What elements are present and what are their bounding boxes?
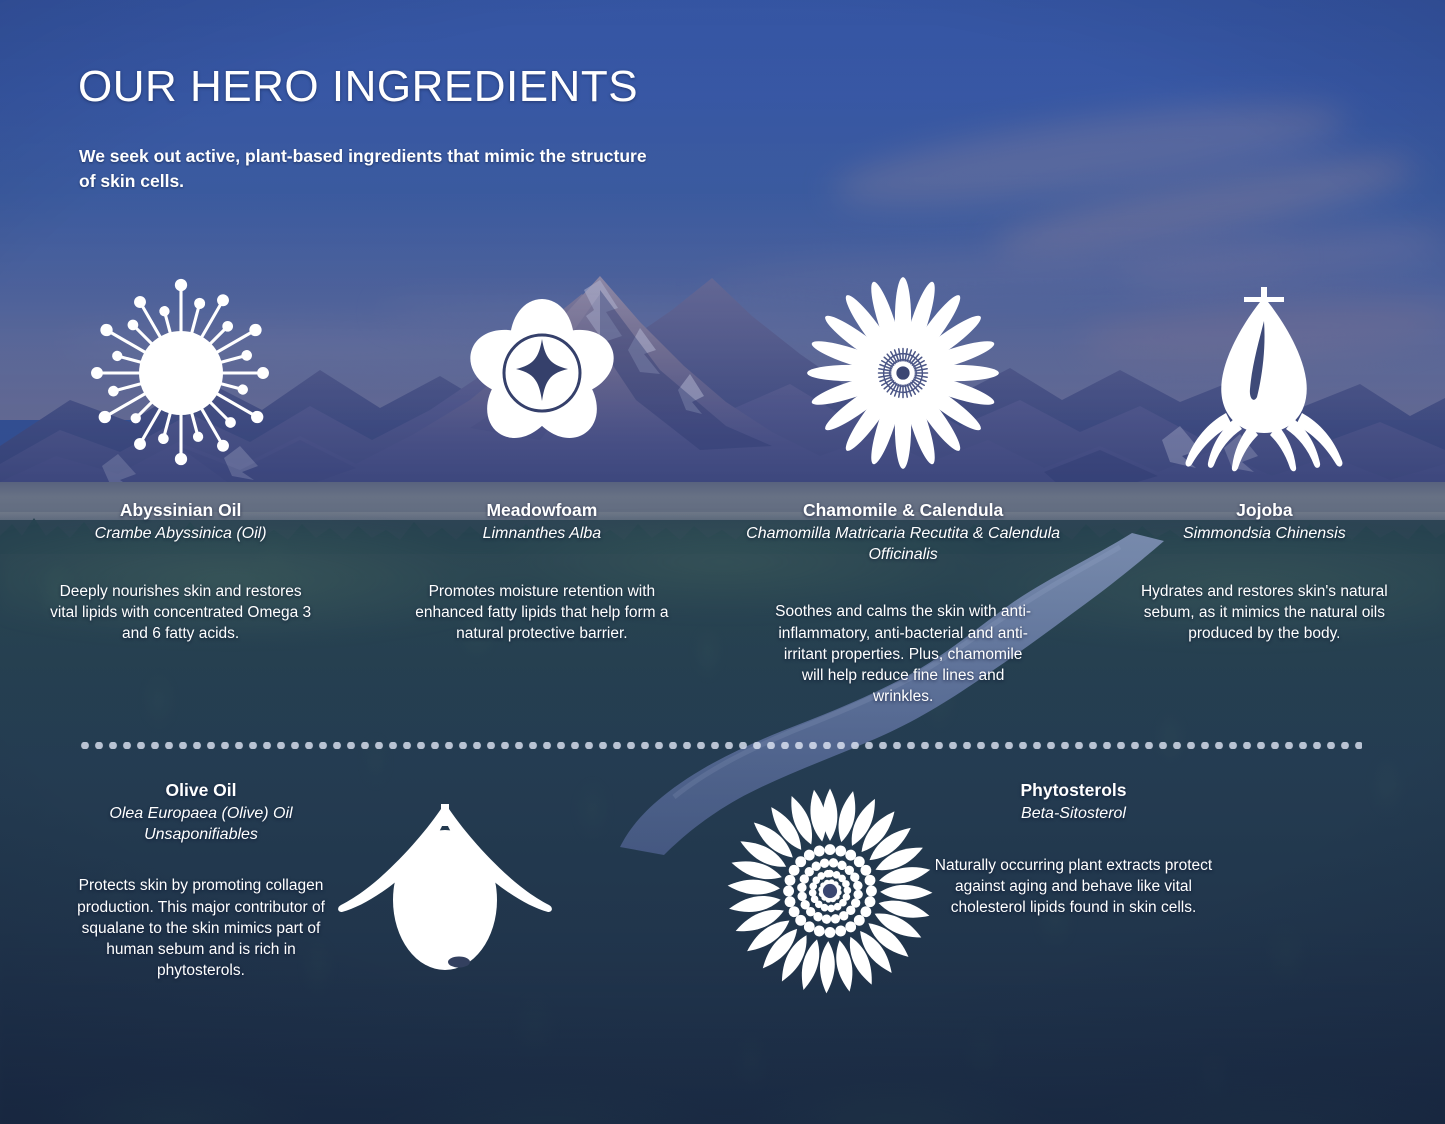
- ingredient-names: Meadowfoam Limnanthes Alba: [361, 500, 722, 545]
- ingredient-description: Naturally occurring plant extracts prote…: [935, 855, 1213, 918]
- ingredient-name: Abyssinian Oil: [0, 500, 361, 522]
- daisy-flower-icon: [798, 268, 1008, 478]
- olive-with-leaves-icon: [340, 786, 550, 996]
- sunburst-seed-icon: [76, 268, 286, 478]
- ingredient-card-phytosterols: Phytosterols Beta-Sitosterol Naturally o…: [725, 780, 1445, 1090]
- ingredient-names: Olive Oil Olea Europaea (Olive) Oil Unsa…: [62, 780, 340, 845]
- ingredient-names: Phytosterols Beta-Sitosterol: [935, 780, 1213, 825]
- ingredient-description: Deeply nourishes skin and restores vital…: [50, 581, 312, 644]
- hero-ingredients-page: OUR HERO INGREDIENTS We seek out active,…: [0, 0, 1445, 1124]
- ingredient-latin: Limnanthes Alba: [361, 524, 722, 545]
- ingredient-names: Jojoba Simmondsia Chinensis: [1084, 500, 1445, 545]
- dotted-divider: [78, 742, 1362, 749]
- ingredient-description: Protects skin by promoting collagen prod…: [62, 875, 340, 980]
- ingredient-latin: Crambe Abyssinica (Oil): [0, 524, 361, 545]
- ingredient-text-block: Olive Oil Olea Europaea (Olive) Oil Unsa…: [62, 780, 340, 981]
- ingredient-latin: Olea Europaea (Olive) Oil Unsaponifiable…: [62, 804, 340, 846]
- ingredient-row-top: Abyssinian Oil Crambe Abyssinica (Oil) D…: [0, 268, 1445, 718]
- ingredient-description: Promotes moisture retention with enhance…: [411, 581, 673, 644]
- five-petal-flower-star-icon: [437, 268, 647, 478]
- ingredient-card-abyssinian-oil: Abyssinian Oil Crambe Abyssinica (Oil) D…: [0, 268, 361, 718]
- page-subtitle: We seek out active, plant-based ingredie…: [79, 144, 659, 194]
- ingredient-card-jojoba: Jojoba Simmondsia Chinensis Hydrates and…: [1084, 268, 1445, 718]
- ingredient-description: Soothes and calms the skin with anti-inf…: [772, 601, 1034, 706]
- jojoba-seed-icon: [1159, 268, 1369, 478]
- ingredient-text-block: Phytosterols Beta-Sitosterol Naturally o…: [935, 780, 1213, 918]
- ingredient-name: Jojoba: [1084, 500, 1445, 522]
- ingredient-card-chamomile-calendula: Chamomile & Calendula Chamomilla Matrica…: [723, 268, 1084, 718]
- ingredient-description: Hydrates and restores skin's natural seb…: [1133, 581, 1395, 644]
- ingredient-card-olive-oil: Olive Oil Olea Europaea (Olive) Oil Unsa…: [0, 780, 725, 1090]
- ingredient-row-bottom: Olive Oil Olea Europaea (Olive) Oil Unsa…: [0, 780, 1445, 1090]
- ingredient-latin: Chamomilla Matricaria Recutita & Calendu…: [723, 524, 1084, 566]
- ingredient-names: Abyssinian Oil Crambe Abyssinica (Oil): [0, 500, 361, 545]
- ingredient-names: Chamomile & Calendula Chamomilla Matrica…: [723, 500, 1084, 565]
- content-layer: OUR HERO INGREDIENTS We seek out active,…: [0, 0, 1445, 1124]
- ingredient-name: Olive Oil: [62, 780, 340, 802]
- ingredient-name: Meadowfoam: [361, 500, 722, 522]
- ingredient-name: Chamomile & Calendula: [723, 500, 1084, 522]
- sunflower-mandala-icon: [725, 786, 935, 996]
- page-title: OUR HERO INGREDIENTS: [78, 62, 638, 112]
- ingredient-name: Phytosterols: [935, 780, 1213, 802]
- ingredient-card-meadowfoam: Meadowfoam Limnanthes Alba Promotes mois…: [361, 268, 722, 718]
- ingredient-latin: Simmondsia Chinensis: [1084, 524, 1445, 545]
- ingredient-latin: Beta-Sitosterol: [935, 804, 1213, 825]
